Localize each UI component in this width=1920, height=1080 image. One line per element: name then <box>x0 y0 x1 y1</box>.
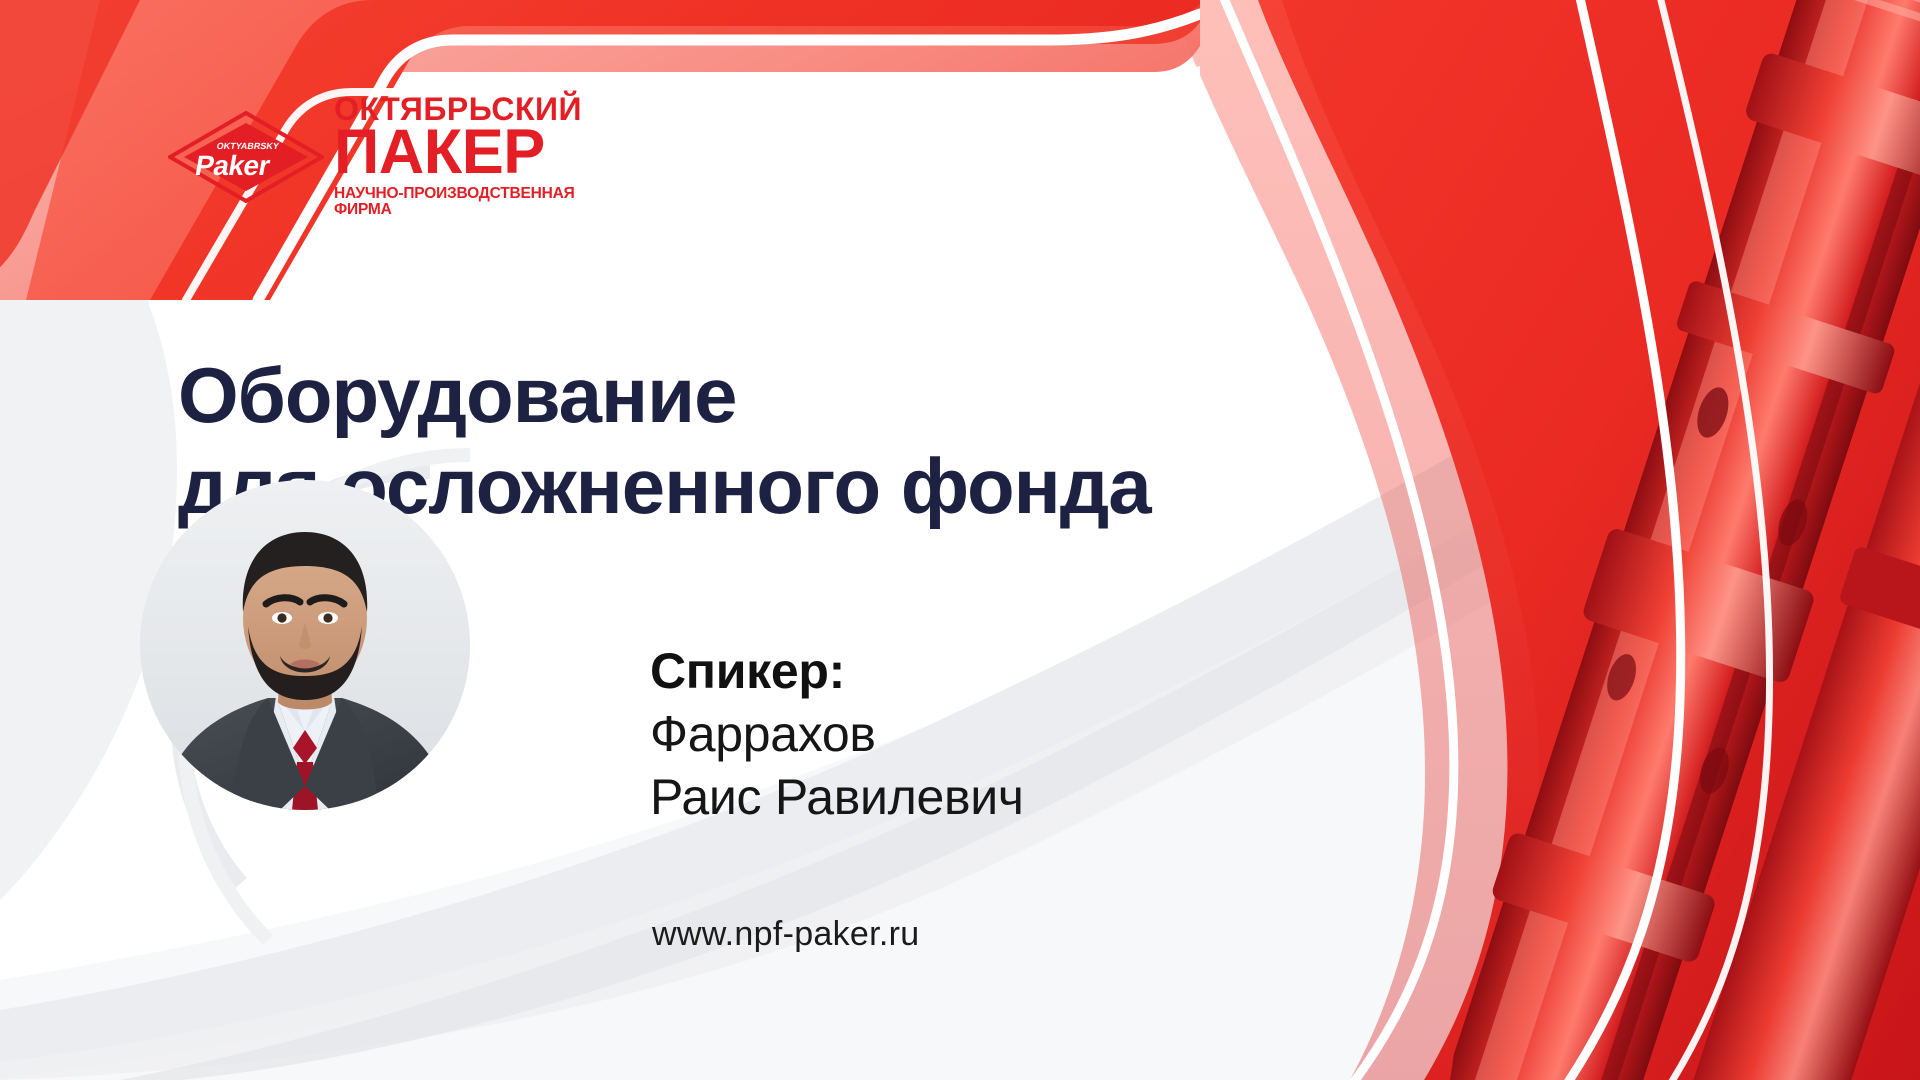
title-line-1: Оборудование <box>178 350 1151 440</box>
presentation-slide: OKTYABRSKY Paker ОКТЯБРЬСКИЙ ПАКЕР НАУЧН… <box>0 0 1920 1080</box>
website-url[interactable]: www.npf-paker.ru <box>652 915 919 954</box>
logo-wordmark: ОКТЯБРЬСКИЙ ПАКЕР НАУЧНО-ПРОИЗВОДСТВЕННА… <box>334 93 588 217</box>
paker-diamond-icon: OKTYABRSKY Paker <box>168 111 324 203</box>
company-logo: OKTYABRSKY Paker ОКТЯБРЬСКИЙ ПАКЕР НАУЧН… <box>168 92 588 222</box>
speaker-avatar <box>140 480 470 810</box>
speaker-info: Спикер: Фаррахов Раис Равилевич <box>650 640 1024 829</box>
speaker-label: Спикер: <box>650 640 1024 703</box>
logo-line-paker: ПАКЕР <box>334 121 545 184</box>
speaker-name-first-patronymic: Раис Равилевич <box>650 766 1024 829</box>
speaker-name-last: Фаррахов <box>650 703 1024 766</box>
svg-text:Paker: Paker <box>193 149 273 181</box>
logo-tagline: НАУЧНО-ПРОИЗВОДСТВЕННАЯ ФИРМА <box>334 186 588 217</box>
